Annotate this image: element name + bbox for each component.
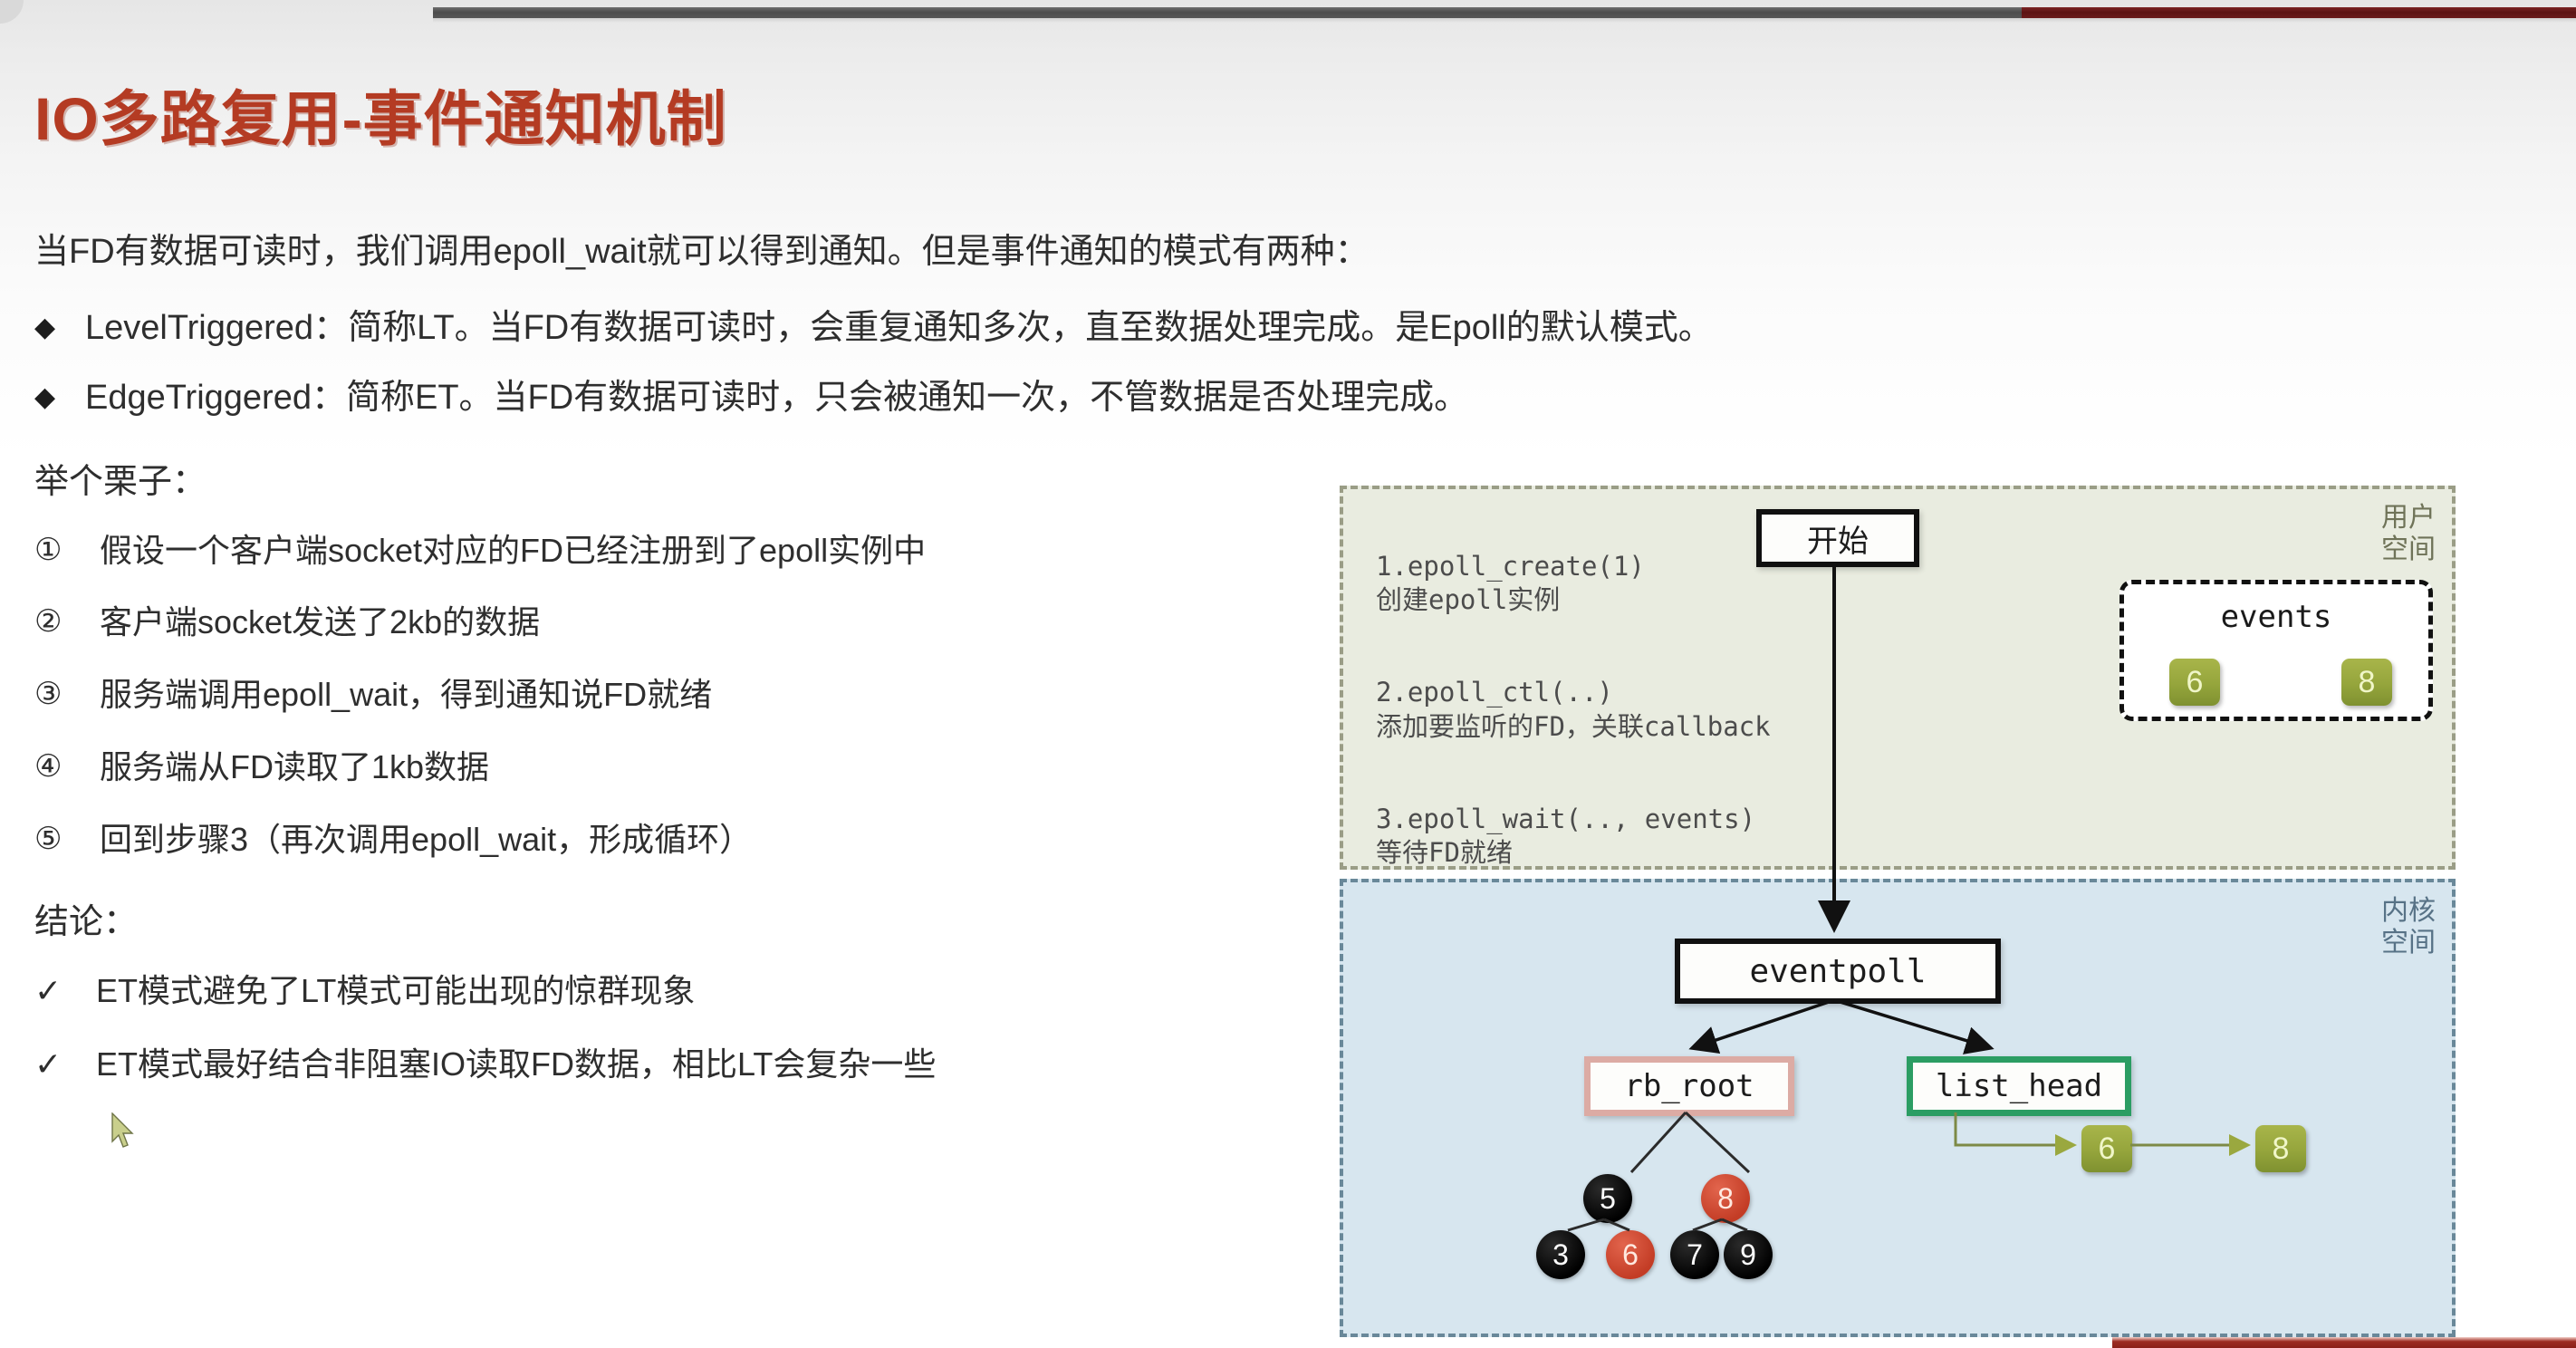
step-number-icon: ④ (34, 746, 100, 788)
spacer (34, 274, 1330, 307)
diamond-bullet-icon: ◆ (34, 307, 85, 350)
user-space-region: 用户 空间 1.epoll_create(1) 创建epoll实例 2.epol… (1340, 486, 2456, 870)
check-icon: ✓ (34, 970, 96, 1013)
api-call-epoll-ctl: 2.epoll_ctl(..) 添加要监听的FD，关联callback (1376, 676, 1771, 743)
spacer (34, 571, 1330, 602)
step-text: 回到步骤3（再次调用epoll_wait，形成循环） (100, 819, 752, 860)
video-progress-bar[interactable] (0, 0, 2576, 24)
step-item-5: ⑤ 回到步骤3（再次调用epoll_wait，形成循环） (34, 819, 1330, 861)
eventpoll-node: eventpoll (1675, 939, 2001, 1004)
list-head-node: list_head (1907, 1056, 2131, 1116)
step-number-icon: ① (34, 530, 100, 572)
step-item-1: ① 假设一个客户端socket对应的FD已经注册到了epoll实例中 (34, 530, 1330, 572)
ready-list-chip: 8 (2255, 1125, 2306, 1172)
mode-bullet-lt: ◆ LevelTriggered：简称LT。当FD有数据可读时，会重复通知多次，… (34, 307, 1330, 351)
example-heading: 举个栗子： (34, 453, 1330, 503)
rb-tree-node: 5 (1583, 1174, 1632, 1223)
step-number-icon: ③ (34, 674, 100, 716)
slide-body: 当FD有数据可读时，我们调用epoll_wait就可以得到通知。但是事件通知的模… (34, 231, 1330, 1086)
spacer (34, 350, 1330, 377)
progress-played-segment[interactable] (433, 7, 2022, 18)
mouse-cursor-icon (111, 1112, 138, 1151)
bottom-accent-bar (2112, 1337, 2576, 1348)
slide-canvas: IO多路复用-事件通知机制 当FD有数据可读时，我们调用epoll_wait就可… (0, 0, 2576, 1348)
progress-bar-shadow (433, 18, 2576, 23)
spacer (34, 861, 1330, 893)
kernel-space-region: 内核 空间 eventpoll rb_root list_head 6 8 5 … (1340, 879, 2456, 1337)
conclusion-text: ET模式避免了LT模式可能出现的惊群现象 (96, 970, 695, 1011)
epoll-architecture-diagram: 用户 空间 1.epoll_create(1) 创建epoll实例 2.epol… (1340, 486, 2456, 1337)
step-item-2: ② 客户端socket发送了2kb的数据 (34, 602, 1330, 643)
user-space-label: 用户 空间 (2381, 502, 2436, 566)
api-call-epoll-create: 1.epoll_create(1) 创建epoll实例 (1376, 550, 1771, 617)
page-title: IO多路复用-事件通知机制 (34, 71, 727, 158)
window-corner-decoration (0, 0, 24, 24)
epoll-api-call-list: 1.epoll_create(1) 创建epoll实例 2.epoll_ctl(… (1376, 516, 1771, 903)
ready-list-chip: 6 (2081, 1125, 2132, 1172)
kernel-space-label: 内核 空间 (2381, 895, 2436, 959)
step-text: 服务端从FD读取了1kb数据 (100, 746, 489, 787)
diamond-bullet-icon: ◆ (34, 377, 85, 419)
rb-tree-node: 7 (1670, 1230, 1719, 1279)
spacer (34, 788, 1330, 819)
mode-bullet-lt-text: LevelTriggered：简称LT。当FD有数据可读时，会重复通知多次，直至… (85, 307, 1713, 351)
events-label: events (2124, 599, 2428, 635)
step-item-4: ④ 服务端从FD读取了1kb数据 (34, 746, 1330, 788)
conclusion-text: ET模式最好结合非阻塞IO读取FD数据，相比LT会复杂一些 (96, 1044, 936, 1084)
step-text: 服务端调用epoll_wait，得到通知说FD就绪 (100, 674, 712, 715)
spacer (34, 643, 1330, 674)
events-array-box: events 6 8 (2119, 580, 2433, 721)
event-chip: 8 (2341, 659, 2392, 706)
event-chip: 6 (2169, 659, 2220, 706)
progress-remaining-segment[interactable] (2022, 7, 2576, 18)
rb-tree-node: 9 (1724, 1230, 1773, 1279)
spacer (34, 420, 1330, 453)
spacer (34, 503, 1330, 530)
step-text: 客户端socket发送了2kb的数据 (100, 602, 540, 642)
conclusion-item-1: ✓ ET模式避免了LT模式可能出现的惊群现象 (34, 970, 1330, 1013)
rb-tree-node: 3 (1536, 1230, 1585, 1279)
check-icon: ✓ (34, 1044, 96, 1086)
spacer (34, 716, 1330, 746)
conclusion-item-2: ✓ ET模式最好结合非阻塞IO读取FD数据，相比LT会复杂一些 (34, 1044, 1330, 1086)
step-number-icon: ② (34, 602, 100, 643)
mode-bullet-et: ◆ EdgeTriggered：简称ET。当FD有数据可读时，只会被通知一次，不… (34, 377, 1330, 420)
rb-tree-node: 8 (1701, 1174, 1750, 1223)
step-number-icon: ⑤ (34, 819, 100, 861)
api-call-epoll-wait: 3.epoll_wait(.., events) 等待FD就绪 (1376, 803, 1771, 870)
mode-bullet-et-text: EdgeTriggered：简称ET。当FD有数据可读时，只会被通知一次，不管数… (85, 377, 1468, 420)
rb-root-node: rb_root (1584, 1056, 1794, 1116)
spacer (34, 943, 1330, 970)
start-node: 开始 (1756, 509, 1919, 567)
spacer (34, 1013, 1330, 1044)
rb-tree-node: 6 (1606, 1230, 1655, 1279)
lead-paragraph: 当FD有数据可读时，我们调用epoll_wait就可以得到通知。但是事件通知的模… (34, 231, 1330, 274)
step-text: 假设一个客户端socket对应的FD已经注册到了epoll实例中 (100, 530, 926, 571)
conclusion-heading: 结论： (34, 893, 1330, 943)
step-item-3: ③ 服务端调用epoll_wait，得到通知说FD就绪 (34, 674, 1330, 716)
